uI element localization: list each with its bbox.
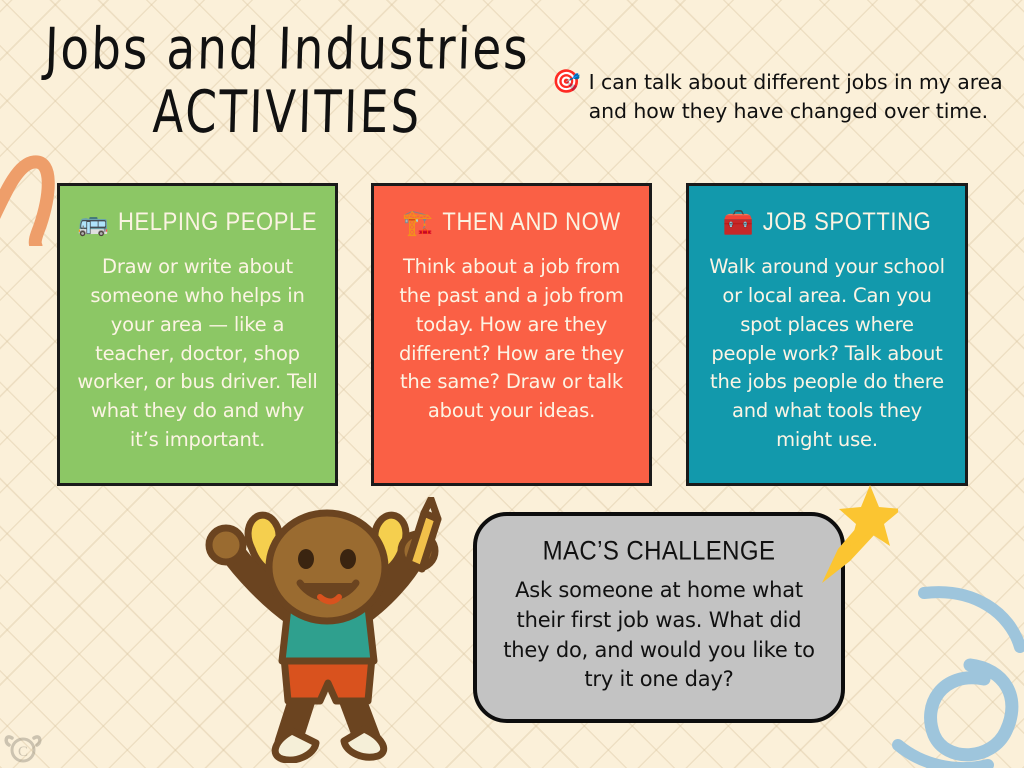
card-header: 🚌 HELPING PEOPLE: [78, 209, 317, 235]
card-body-text: Draw or write about someone who helps in…: [74, 253, 321, 455]
title-line-primary: Jobs and Industries: [26, 22, 548, 78]
card-title: HELPING PEOPLE: [118, 207, 317, 236]
copyright-moose-mark: C: [4, 732, 42, 764]
card-header: 🧰 JOB SPOTTING: [723, 209, 932, 235]
svg-text:C: C: [18, 744, 28, 760]
title-line-secondary: ACTIVITIES: [26, 84, 548, 141]
blue-squiggle-decoration: [864, 559, 1024, 768]
moose-mascot: [196, 497, 458, 763]
bus-icon: 🚌: [78, 210, 109, 235]
challenge-body-text: Ask someone at home what their first job…: [497, 576, 821, 695]
activity-card-helping-people[interactable]: 🚌 HELPING PEOPLE Draw or write about som…: [57, 183, 338, 486]
card-title: THEN AND NOW: [442, 207, 620, 236]
challenge-title: MAC’S CHALLENGE: [497, 537, 821, 568]
activity-card-job-spotting[interactable]: 🧰 JOB SPOTTING Walk around your school o…: [686, 183, 968, 486]
target-dart-icon: 🎯: [552, 68, 581, 96]
card-body-text: Think about a job from the past and a jo…: [388, 253, 635, 426]
macs-challenge-box[interactable]: MAC’S CHALLENGE Ask someone at home what…: [473, 512, 845, 723]
learning-objective-text: I can talk about different jobs in my ar…: [589, 68, 1004, 126]
page-title: Jobs and Industries ACTIVITIES: [28, 22, 548, 128]
slide-canvas: Jobs and Industries ACTIVITIES 🎯 I can t…: [0, 0, 1024, 768]
card-header: 🏗️ THEN AND NOW: [402, 209, 620, 235]
toolbox-icon: 🧰: [723, 210, 754, 235]
activity-card-then-and-now[interactable]: 🏗️ THEN AND NOW Think about a job from t…: [371, 183, 652, 486]
card-title: JOB SPOTTING: [763, 207, 932, 236]
learning-objective: 🎯 I can talk about different jobs in my …: [552, 68, 1004, 126]
crane-icon: 🏗️: [402, 210, 433, 235]
card-body-text: Walk around your school or local area. C…: [703, 253, 951, 455]
